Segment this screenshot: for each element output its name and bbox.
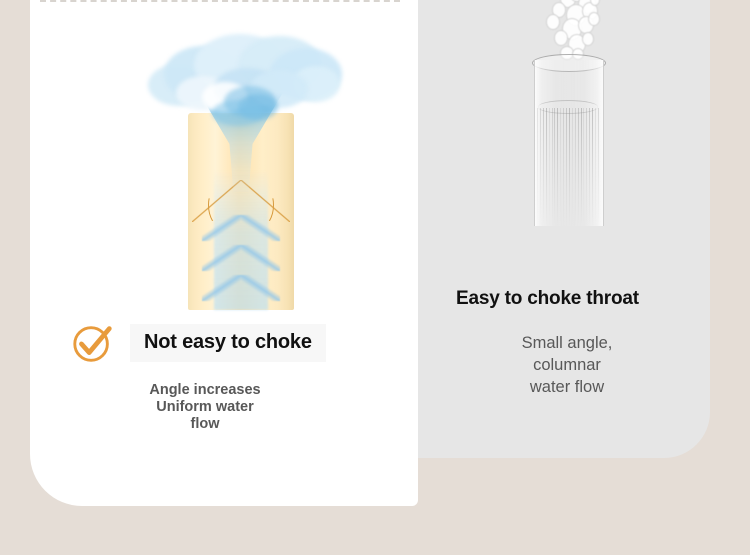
water-droplet bbox=[590, 0, 600, 6]
left-subtext-line: Uniform water bbox=[70, 399, 340, 416]
flow-chevron bbox=[202, 245, 280, 271]
not-easy-to-choke-badge: Not easy to choke bbox=[70, 320, 326, 366]
water-streak bbox=[546, 108, 547, 226]
water-streak bbox=[540, 108, 541, 226]
left-subtext: Angle increases Uniform water flow bbox=[70, 382, 340, 433]
right-heading: Easy to choke throat bbox=[456, 288, 639, 310]
wide-angle-spray-nozzle-illustration bbox=[146, 20, 336, 310]
water-streak bbox=[569, 108, 570, 226]
water-streak bbox=[592, 108, 593, 226]
water-streak bbox=[575, 108, 576, 226]
water-streak bbox=[578, 108, 579, 226]
water-streak bbox=[563, 108, 564, 226]
water-streak bbox=[581, 108, 582, 226]
water-streak bbox=[595, 108, 596, 226]
right-subtext-line: columnar bbox=[447, 354, 687, 376]
columnar-water-flow-illustration bbox=[518, 0, 618, 220]
dashed-divider bbox=[40, 0, 400, 2]
water-streak bbox=[554, 108, 555, 226]
water-streak bbox=[583, 108, 584, 226]
water-splash-canopy bbox=[142, 20, 340, 140]
water-streak bbox=[543, 108, 544, 226]
check-circle-icon bbox=[70, 320, 116, 366]
water-streak bbox=[589, 108, 590, 226]
water-droplet bbox=[582, 32, 594, 46]
badge-label: Not easy to choke bbox=[130, 324, 326, 362]
water-droplet bbox=[588, 12, 600, 26]
water-streaks bbox=[536, 108, 600, 226]
right-subtext-line: Small angle, bbox=[447, 332, 687, 354]
comparison-graphic: Not easy to choke Angle increases Unifor… bbox=[0, 0, 750, 555]
water-streak bbox=[598, 108, 599, 226]
left-subtext-line: flow bbox=[70, 416, 340, 433]
water-streak bbox=[586, 108, 587, 226]
water-streak bbox=[537, 108, 538, 226]
water-streak bbox=[572, 108, 573, 226]
splash-blob bbox=[212, 100, 264, 126]
water-streak bbox=[557, 108, 558, 226]
water-streak bbox=[549, 108, 550, 226]
water-streak bbox=[566, 108, 567, 226]
right-subtext-line: water flow bbox=[447, 376, 687, 398]
water-streak bbox=[552, 108, 553, 226]
flow-chevron bbox=[202, 215, 280, 241]
water-droplet bbox=[546, 14, 560, 30]
left-subtext-line: Angle increases bbox=[70, 382, 340, 399]
right-subtext: Small angle, columnar water flow bbox=[447, 332, 687, 398]
water-droplet bbox=[554, 30, 568, 46]
flow-chevron bbox=[202, 275, 280, 301]
water-streak bbox=[560, 108, 561, 226]
